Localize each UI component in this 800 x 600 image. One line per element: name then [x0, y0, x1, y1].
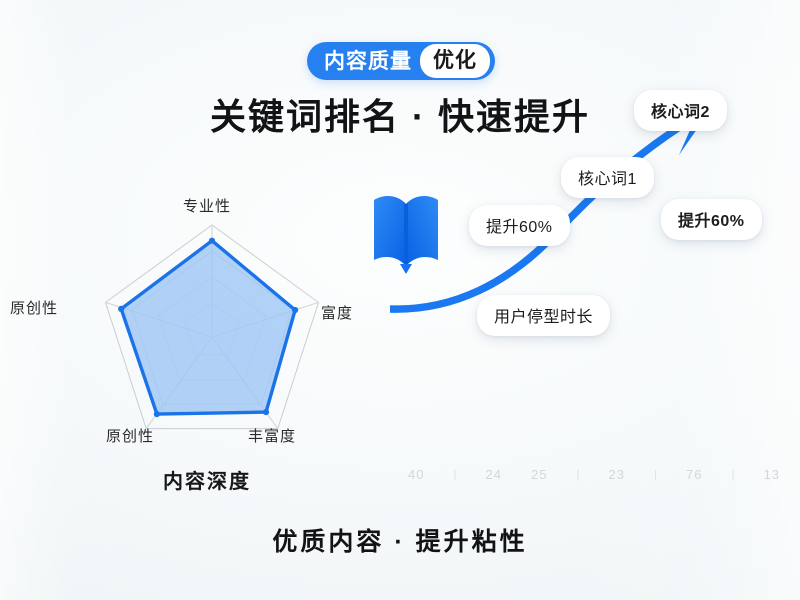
pill-keyword-2-label: 核心词2 [651, 104, 710, 121]
pill-keyword-1-label: 核心词1 [578, 171, 637, 188]
poster-canvas: 内容质量 优化 关键词排名 · 快速提升 [0, 0, 800, 600]
pill-keyword-2[interactable]: 核心词2 [634, 90, 727, 131]
axis-label-bottom-left: 原创性 [106, 425, 154, 446]
pill-uplift-right[interactable]: 提升60% [661, 199, 762, 240]
axis-label-left: 原创性 [10, 297, 58, 318]
ghost-axis-value-1: 40 [408, 467, 424, 482]
axis-label-top: 专业性 [183, 195, 231, 216]
ghost-axis-value-6: 13 [764, 467, 780, 482]
ghost-axis-tick: | [731, 467, 734, 481]
badge-chip-label: 优化 [420, 44, 490, 78]
content-quality-badge[interactable]: 内容质量 优化 [307, 42, 495, 80]
badge-main-label: 内容质量 [324, 51, 420, 72]
radar-chart: 专业性 富度 丰富度 原创性 原创性 [42, 196, 387, 466]
axis-label-bottom-right: 丰富度 [248, 425, 296, 446]
radar-chart-svg [42, 196, 387, 466]
pill-uplift-left[interactable]: 提升60% [469, 205, 570, 246]
caption-content-depth: 内容深度 [163, 465, 251, 494]
pill-uplift-right-label: 提升60% [678, 213, 745, 230]
axis-label-right: 富度 [321, 302, 353, 323]
ghost-axis-value-5: 76 [686, 467, 702, 482]
pill-uplift-left-label: 提升60% [486, 219, 553, 236]
open-book-icon [370, 188, 442, 274]
ghost-axis-tick: | [576, 467, 579, 481]
pill-dwell-time-label: 用户停型时长 [494, 309, 593, 326]
ghost-axis-value-3: 25 [531, 467, 547, 482]
ghost-axis-value-2: 24 [486, 467, 502, 482]
ghost-axis-tick: | [453, 467, 456, 481]
ghost-axis-tick: | [654, 467, 657, 481]
pill-keyword-1[interactable]: 核心词1 [561, 157, 654, 198]
ghost-axis-strip: 40 | 24 25 | 23 | 76 | 13 [408, 462, 780, 486]
ghost-axis-value-4: 23 [609, 467, 625, 482]
caption-footer: 优质内容 · 提升粘性 [0, 522, 800, 558]
pill-dwell-time[interactable]: 用户停型时长 [477, 295, 610, 336]
